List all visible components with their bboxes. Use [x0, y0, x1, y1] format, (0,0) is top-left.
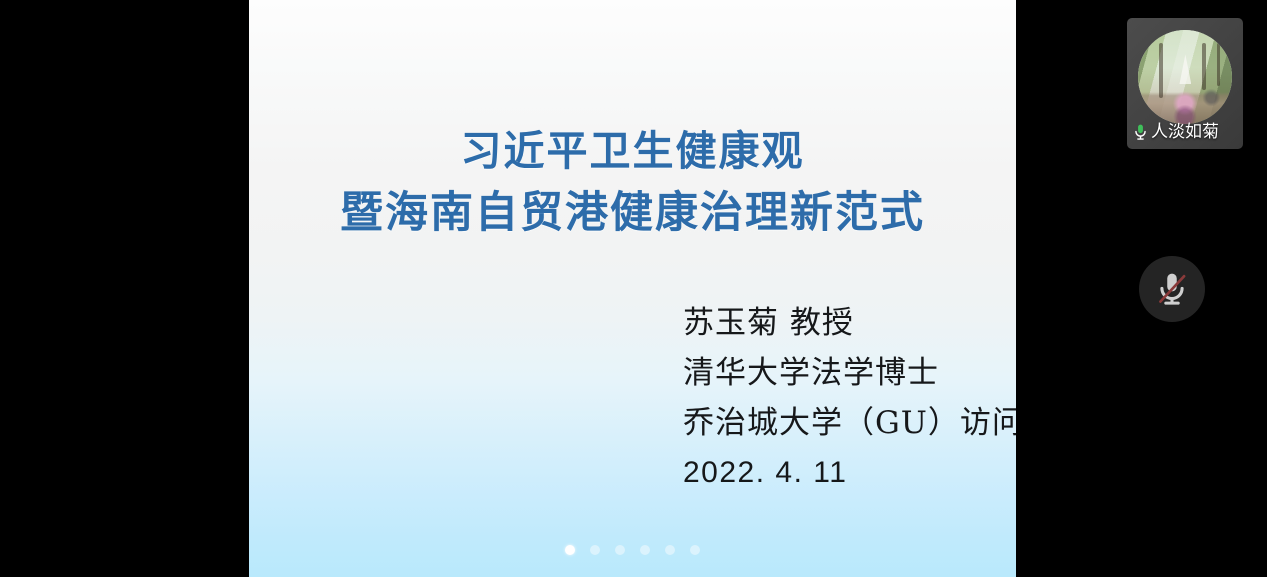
- avatar-tree-trunk: [1202, 43, 1206, 90]
- slide-dot-3[interactable]: [615, 545, 625, 555]
- slide-dot-2[interactable]: [590, 545, 600, 555]
- slide-dot-6[interactable]: [690, 545, 700, 555]
- avatar: [1138, 30, 1232, 124]
- slide-title-line-2: 暨海南自贸港健康治理新范式: [249, 185, 1016, 242]
- microphone-on-icon: [1133, 124, 1148, 141]
- participant-name-row: 人淡如菊: [1133, 124, 1219, 141]
- slide-pagination-dots[interactable]: [249, 545, 1016, 555]
- slide-body-line-2: 清华大学法学博士: [683, 348, 1016, 398]
- slide-body-line-1: 苏玉菊 教授: [683, 298, 1016, 348]
- slide-dot-5[interactable]: [665, 545, 675, 555]
- shared-slide[interactable]: 习近平卫生健康观 暨海南自贸港健康治理新范式 苏玉菊 教授 清华大学法学博士 乔…: [249, 0, 1016, 577]
- slide-title-line-1: 习近平卫生健康观: [249, 124, 1016, 178]
- slide-title: 习近平卫生健康观 暨海南自贸港健康治理新范式: [249, 124, 1016, 242]
- participant-thumbnail[interactable]: 人淡如菊: [1127, 18, 1243, 149]
- avatar-tree-trunk: [1217, 43, 1220, 86]
- slide-body-line-3: 乔治城大学（GU）访问学者: [683, 398, 1016, 448]
- slide-dot-1[interactable]: [565, 545, 575, 555]
- microphone-off-icon: [1153, 270, 1191, 308]
- avatar-tree-trunk: [1159, 43, 1163, 98]
- slide-body: 苏玉菊 教授 清华大学法学博士 乔治城大学（GU）访问学者 2022. 4. 1…: [683, 298, 1016, 498]
- mute-button[interactable]: [1139, 256, 1205, 322]
- meeting-screen: 习近平卫生健康观 暨海南自贸港健康治理新范式 苏玉菊 教授 清华大学法学博士 乔…: [0, 0, 1267, 577]
- participant-name: 人淡如菊: [1151, 124, 1219, 141]
- slide-dot-4[interactable]: [640, 545, 650, 555]
- slide-date: 2022. 4. 11: [683, 448, 1016, 498]
